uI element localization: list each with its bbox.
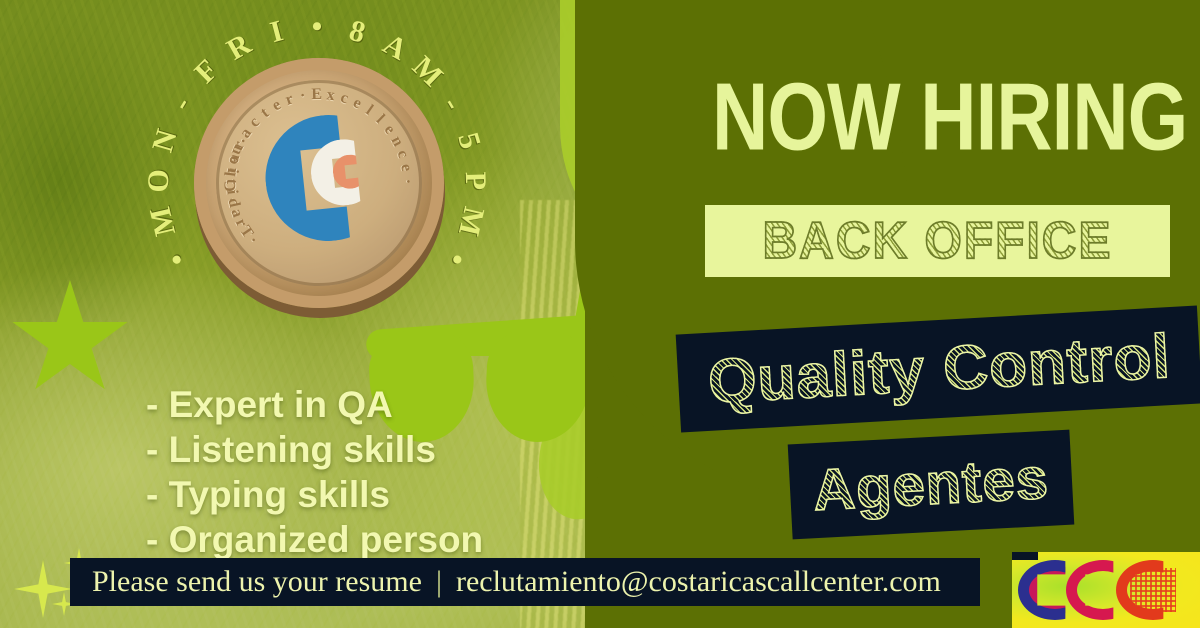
logo-halftone-dots <box>1130 568 1176 612</box>
schedule-ring-char: 5 <box>450 129 487 153</box>
back-office-banner: BACK OFFICE <box>705 205 1170 277</box>
page-title: NOW HIRING <box>712 74 1182 160</box>
requirements-items: - Expert in QA- Listening skills- Typing… <box>146 382 576 563</box>
logo-corner-mask <box>1012 552 1038 560</box>
schedule-ring-char: A <box>377 27 413 67</box>
medallion-arc-char: i <box>223 167 241 174</box>
requirement-item: - Organized person <box>146 517 576 562</box>
quality-control-label: Quality Control <box>706 321 1172 418</box>
schedule-ring-char: F <box>188 53 225 90</box>
medallion-arc-char: t <box>222 179 240 185</box>
contact-bar: Please send us your resume | reclutamien… <box>70 558 980 606</box>
schedule-ring-char: - <box>164 91 198 117</box>
agentes-label: Agentes <box>811 445 1050 524</box>
ccc-logo[interactable] <box>1012 552 1200 628</box>
schedule-ring-char: • <box>439 247 474 272</box>
schedule-ring-char: I <box>267 14 287 50</box>
schedule-ring-char: R <box>221 27 257 67</box>
cta-text: Please send us your resume <box>92 565 422 599</box>
requirement-item: - Typing skills <box>146 472 576 517</box>
schedule-ring-char: M <box>451 204 491 239</box>
schedule-ring-char: • <box>160 247 195 272</box>
medallion-inner: ·Character·Excellence· ·Tradition· <box>206 70 432 296</box>
separator: | <box>436 565 442 599</box>
requirement-item: - Listening skills <box>146 427 576 472</box>
schedule-ring-char: - <box>435 91 469 117</box>
requirements-list: - Expert in QA- Listening skills- Typing… <box>146 382 576 563</box>
job-ad-poster: •MON-FRI•8AM-5PM• ·Character·Excellence·… <box>0 0 1200 628</box>
back-office-label: BACK OFFICE <box>763 211 1113 270</box>
medallion-arc-char: i <box>222 189 240 195</box>
schedule-ring-char: O <box>142 169 177 193</box>
agentes-banner: Agentes <box>788 430 1075 540</box>
schedule-badge: •MON-FRI•8AM-5PM• ·Character·Excellence·… <box>142 10 492 360</box>
schedule-ring-char: • <box>312 10 323 44</box>
schedule-ring-char: N <box>146 126 185 156</box>
schedule-ring-char: 8 <box>346 14 369 51</box>
requirement-item: - Expert in QA <box>146 382 576 427</box>
schedule-ring-char: M <box>143 204 183 239</box>
schedule-ring-char: P <box>458 171 492 190</box>
email-address[interactable]: reclutamiento@costaricascallcenter.com <box>456 565 941 599</box>
